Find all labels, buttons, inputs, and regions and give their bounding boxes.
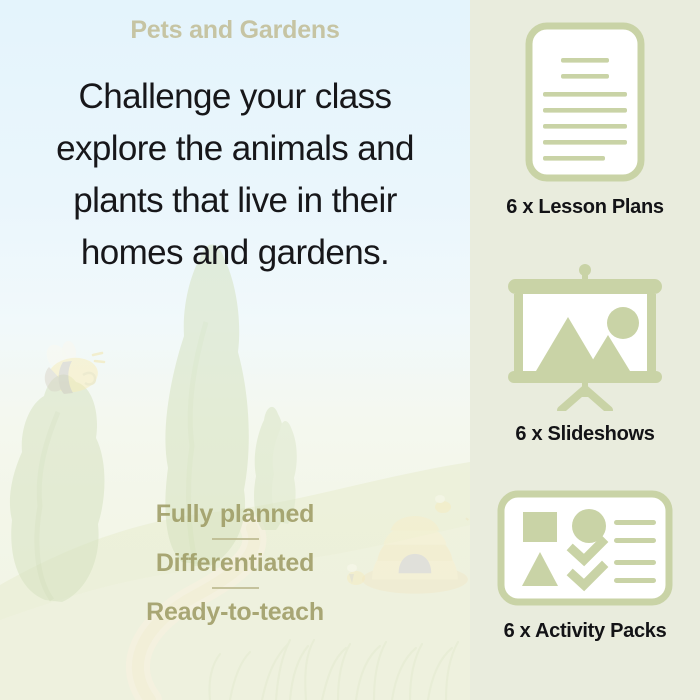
promo-graphic: Pets and Gardens Challenge your class ex… [0,0,700,700]
assets-panel: 6 x Lesson Plans 6 x Slideshows [470,0,700,700]
left-panel: Pets and Gardens Challenge your class ex… [0,0,470,700]
asset-label-lesson-plans: 6 x Lesson Plans [506,196,664,219]
feature-divider [212,538,259,540]
asset-label-activity-packs: 6 x Activity Packs [504,620,667,643]
asset-lesson-plans: 6 x Lesson Plans [470,22,700,219]
activity-card-icon [497,490,673,606]
asset-label-slideshows: 6 x Slideshows [515,423,654,446]
feature-item-differentiated: Differentiated [156,549,314,577]
feature-item-ready-to-teach: Ready-to-teach [146,598,324,626]
projector-screen-icon [500,263,670,411]
feature-list: Fully planned Differentiated Ready-to-te… [0,500,470,626]
page-title: Pets and Gardens [130,16,339,45]
document-icon [525,22,645,182]
headline-text: Challenge your class explore the animals… [20,71,450,279]
asset-activity-packs: 6 x Activity Packs [470,490,700,643]
asset-slideshows: 6 x Slideshows [470,263,700,446]
feature-divider [212,587,259,589]
feature-item-fully-planned: Fully planned [156,500,315,528]
